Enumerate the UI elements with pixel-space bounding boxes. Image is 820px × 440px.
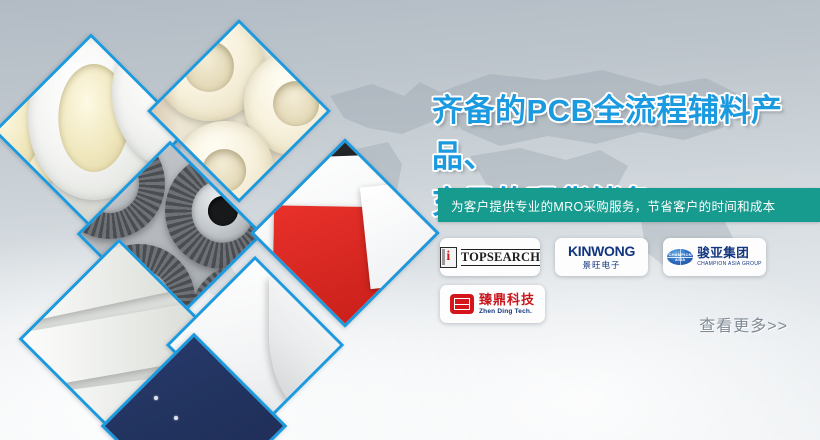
zhen-ding-english-name: Zhen Ding Tech.: [479, 309, 535, 316]
logo-badge-kinwong[interactable]: KINWONG 景旺电子: [555, 238, 648, 276]
logo-badge-topsearch[interactable]: TOPSEARCH: [440, 238, 540, 276]
champion-asia-english-name: CHAMPION ASIA GROUP: [697, 262, 762, 267]
banner-content: 齐备的PCB全流程辅料产品、 充足的现货储备 为客户提供专业的MRO采购服务，节…: [432, 0, 820, 440]
view-more-link[interactable]: 查看更多>>: [699, 312, 788, 336]
champion-asia-globe-icon: CHAMPION ASIA: [667, 249, 693, 265]
topsearch-i-mark-icon: [440, 247, 457, 268]
champion-asia-globe-label: CHAMPION ASIA: [667, 252, 693, 262]
banner-subtitle-bar: 为客户提供专业的MRO采购服务，节省客户的时间和成本: [438, 188, 820, 222]
champion-asia-chinese-name: 骏亚集团: [697, 247, 762, 260]
promo-banner: JIE JIE 齐备的PCB全流程辅料产品、 充足的现货储备: [0, 0, 820, 440]
logo-badge-zhen-ding[interactable]: 臻鼎科技 Zhen Ding Tech.: [440, 285, 545, 323]
kinwong-chinese-name: 景旺电子: [568, 261, 635, 270]
logo-badge-champion-asia[interactable]: CHAMPION ASIA 骏亚集团 CHAMPION ASIA GROUP: [663, 238, 766, 276]
product-tile-cluster: JIE JIE: [0, 0, 440, 440]
kinwong-wordmark: KINWONG: [568, 244, 635, 258]
logo-row-1: TOPSEARCH KINWONG 景旺电子 CHAMPION ASIA: [440, 238, 820, 276]
zhen-ding-chinese-name: 臻鼎科技: [479, 293, 535, 306]
topsearch-wordmark: TOPSEARCH: [461, 249, 540, 266]
zhen-ding-square-icon: [450, 294, 474, 314]
banner-subtitle-text: 为客户提供专业的MRO采购服务，节省客户的时间和成本: [438, 196, 775, 215]
